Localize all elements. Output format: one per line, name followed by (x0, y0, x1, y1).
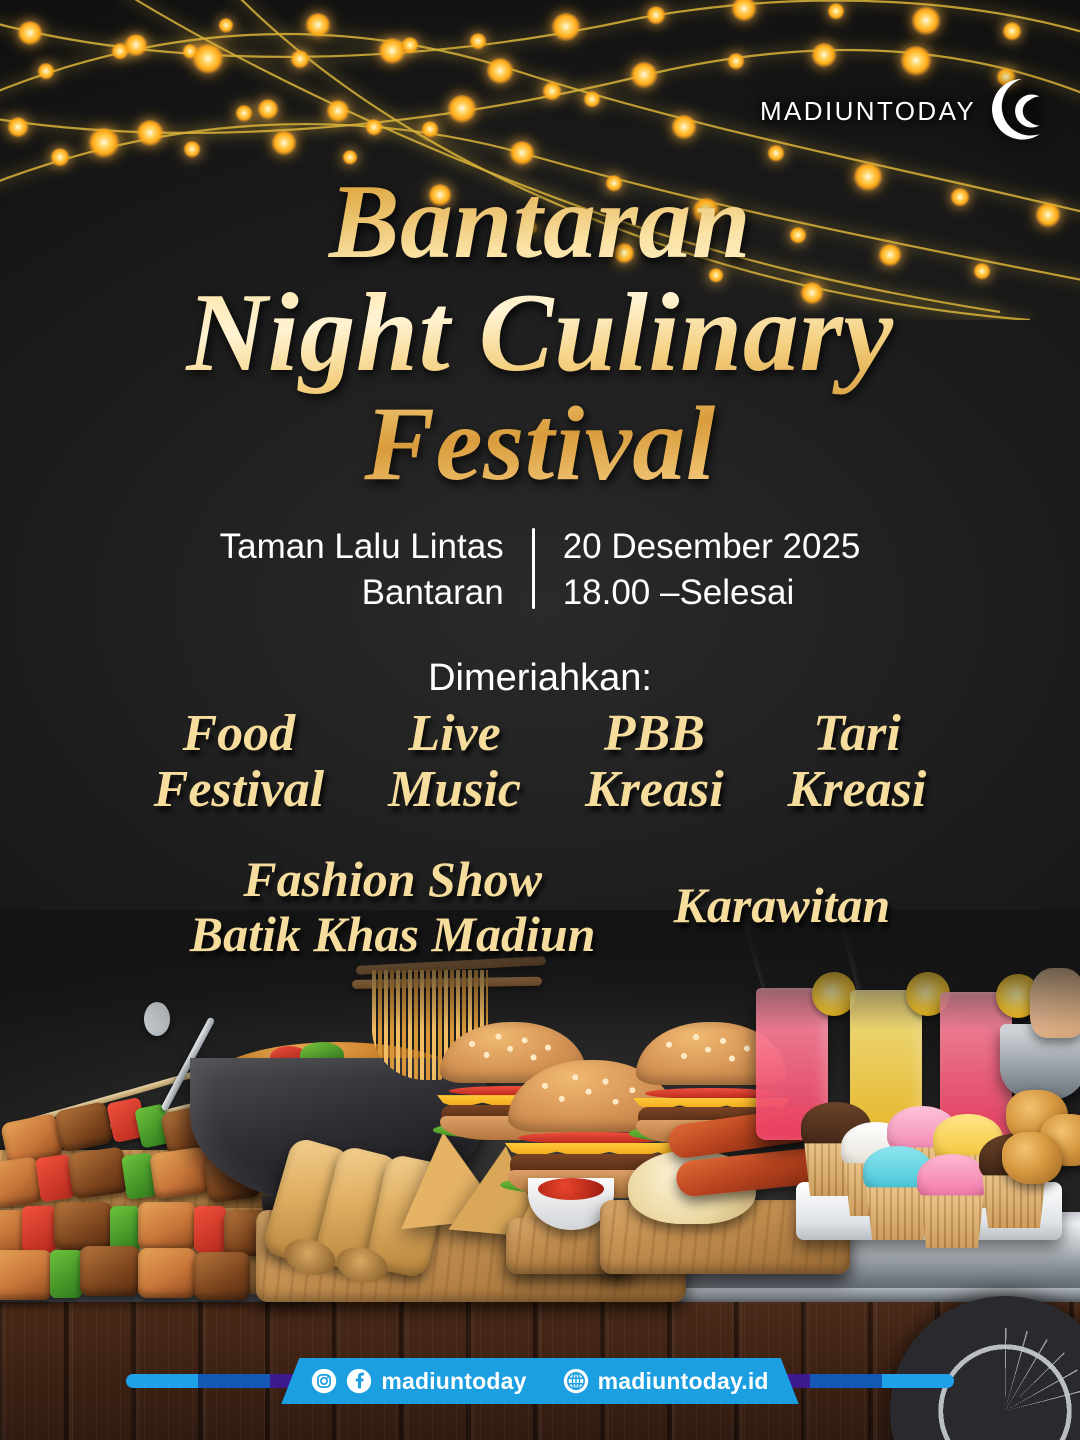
lineup-item-line-2: Music (388, 762, 521, 818)
social-handle-group[interactable]: madiuntoday (311, 1368, 526, 1395)
lineup-item-line-1: Live (388, 706, 521, 762)
social-handle: madiuntoday (381, 1368, 526, 1395)
lineup-list: Food Festival Live Music PBB Kreasi Tari… (0, 706, 1080, 962)
spoon-head (144, 1002, 170, 1036)
event-date: 20 Desember 2025 (563, 524, 861, 570)
title-line-2: Night Culinary (0, 276, 1080, 390)
lineup-item-food-festival: Food Festival (154, 706, 324, 818)
lemon-slice (906, 972, 950, 1016)
datetime-block: 20 Desember 2025 18.00 –Selesai (535, 524, 861, 615)
lineup-item-line-1: PBB (585, 706, 724, 762)
crescent-swoosh-icon (984, 78, 1050, 144)
lineup-row-1: Food Festival Live Music PBB Kreasi Tari… (0, 706, 1080, 818)
lineup-row-2: Fashion Show Batik Khas Madiun Karawitan (0, 852, 1080, 962)
event-time: 18.00 –Selesai (563, 570, 861, 616)
lemon-slice (812, 972, 856, 1016)
lineup-item-line-2: Festival (154, 762, 324, 818)
facebook-icon[interactable] (346, 1368, 372, 1394)
lineup-item-line-2: Kreasi (788, 762, 927, 818)
hand (1030, 968, 1080, 1038)
brand-logo[interactable]: MADIUNTODAY (760, 78, 1050, 144)
social-bar: madiuntoday madiuntoday.id (0, 1358, 1080, 1404)
lineup-item-live-music: Live Music (388, 706, 521, 818)
poster-title: Bantaran Night Culinary Festival (0, 168, 1080, 498)
lineup-item-line-2: Batik Khas Madiun (190, 907, 596, 962)
brand-logo-text: MADIUNTODAY (760, 96, 976, 127)
website-url: madiuntoday.id (598, 1368, 769, 1395)
venue-line-1: Taman Lalu Lintas (220, 524, 504, 570)
fried-chicken-3 (1002, 1132, 1062, 1184)
lineup-item-fashion-show: Fashion Show Batik Khas Madiun (190, 852, 596, 962)
lineup-item-line-1: Tari (788, 706, 927, 762)
lineup-item-line-1: Food (154, 706, 324, 762)
website-group[interactable]: madiuntoday.id (563, 1368, 769, 1395)
instagram-icon[interactable] (311, 1368, 337, 1394)
lineup-label: Dimeriahkan: (0, 657, 1080, 700)
chili-sauce (538, 1178, 604, 1200)
title-line-3: Festival (0, 390, 1080, 498)
poster: MADIUNTODAY Bantaran Night Culinary Fest… (0, 0, 1080, 1440)
title-line-1: Bantaran (0, 168, 1080, 276)
lineup-item-tari-kreasi: Tari Kreasi (788, 706, 927, 818)
lineup-item-pbb-kreasi: PBB Kreasi (585, 706, 724, 818)
social-banner: madiuntoday madiuntoday.id (281, 1358, 798, 1404)
event-info: Taman Lalu Lintas Bantaran 20 Desember 2… (0, 524, 1080, 615)
lemon-slice (996, 974, 1040, 1018)
chopstick-lower (352, 977, 542, 989)
lineup-item-karawitan: Karawitan (673, 852, 890, 933)
venue-line-2: Bantaran (220, 570, 504, 616)
lineup-item-line-2: Kreasi (585, 762, 724, 818)
lineup-item-line-1: Karawitan (673, 878, 890, 933)
lineup-item-line-1: Fashion Show (190, 852, 596, 907)
venue-block: Taman Lalu Lintas Bantaran (220, 524, 532, 615)
globe-icon[interactable] (563, 1368, 589, 1394)
